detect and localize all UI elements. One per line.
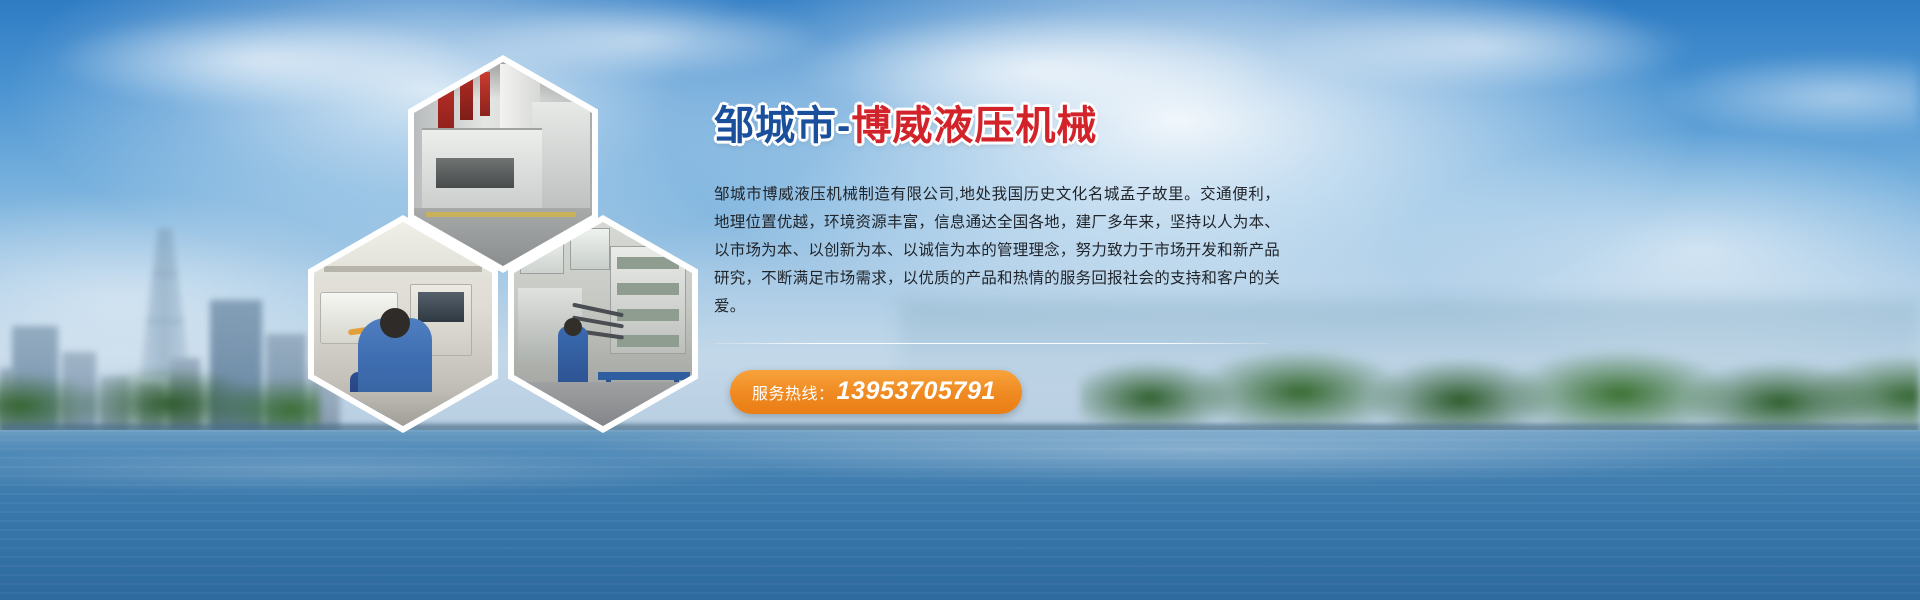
company-description: 邹城市博威液压机械制造有限公司,地处我国历史文化名城孟子故里。交通便利，地理位置…: [714, 181, 1280, 321]
laboratory-inspection-photo: [314, 222, 492, 426]
hotline-label: 服务热线：: [752, 380, 835, 404]
machine-window: [436, 158, 514, 188]
machine-red-part: [438, 68, 454, 130]
hexagon-photo-cluster: [300, 55, 700, 455]
machining-workshop-photo: [414, 62, 592, 266]
banner-content: 邹城市-博威液压机械 邹城市博威液压机械制造有限公司,地处我国历史文化名城孟子故…: [714, 104, 1294, 414]
machine-red-part: [460, 66, 473, 120]
technician-head: [380, 308, 410, 338]
company-hero-banner: 邹城市-博威液压机械 邹城市博威液压机械制造有限公司,地处我国历史文化名城孟子故…: [0, 0, 1920, 600]
service-hotline-badge[interactable]: 服务热线： 13953705791: [730, 370, 1022, 414]
instrument-screen: [418, 292, 464, 322]
hydraulic-test-bench-photo: [514, 222, 692, 426]
workshop-window: [570, 228, 610, 270]
foliage-left: [0, 320, 320, 438]
water-reflection: [0, 430, 1920, 600]
company-title: 邹城市-博威液压机械: [714, 104, 1294, 149]
photo-frame: [414, 62, 592, 266]
workshop-floor: [514, 382, 692, 426]
work-trolley: [598, 372, 690, 380]
hotline-number[interactable]: 13953705791: [837, 377, 997, 406]
machine-red-part: [480, 72, 490, 116]
floor-safety-line: [426, 212, 576, 217]
company-title-prefix: 邹城市-: [714, 104, 851, 148]
lab-floor: [314, 392, 492, 426]
river-water: [0, 430, 1920, 600]
worker-head: [564, 318, 582, 336]
photo-frame: [314, 222, 492, 426]
content-divider: [714, 343, 1270, 344]
company-title-brand: 博威液压机械: [851, 104, 1097, 148]
photo-frame: [514, 222, 692, 426]
lab-shelf: [324, 266, 482, 272]
